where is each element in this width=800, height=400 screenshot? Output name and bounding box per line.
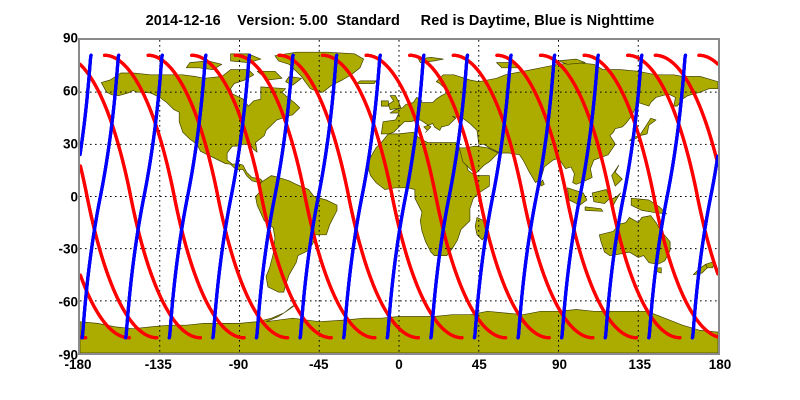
x-axis-tick-label: -180 (64, 357, 91, 372)
x-axis-tick-label: 180 (709, 357, 732, 372)
y-axis-tick-label: 90 (63, 31, 78, 46)
map-plot-area (78, 38, 720, 355)
map-canvas (80, 40, 718, 353)
x-axis-tick-label: -90 (229, 357, 249, 372)
x-axis-tick-label: 45 (472, 357, 487, 372)
x-axis-tick-label: -135 (145, 357, 172, 372)
figure-title: 2014-12-16 Version: 5.00 Standard Red is… (0, 13, 800, 29)
y-axis-tick-label: 60 (63, 83, 78, 98)
plot-wrapper (78, 38, 720, 355)
satellite-groundtrack-figure: 2014-12-16 Version: 5.00 Standard Red is… (0, 0, 800, 400)
x-axis-tick-label: 0 (395, 357, 403, 372)
x-axis-tick-label: 135 (628, 357, 651, 372)
y-axis-tick-label: 0 (70, 189, 78, 204)
x-axis-tick-label: -45 (309, 357, 329, 372)
y-axis-tick-label: -60 (58, 295, 78, 310)
y-axis-tick-label: -30 (58, 242, 78, 257)
y-axis-tick-label: 30 (63, 136, 78, 151)
x-axis-tick-label: 90 (552, 357, 567, 372)
